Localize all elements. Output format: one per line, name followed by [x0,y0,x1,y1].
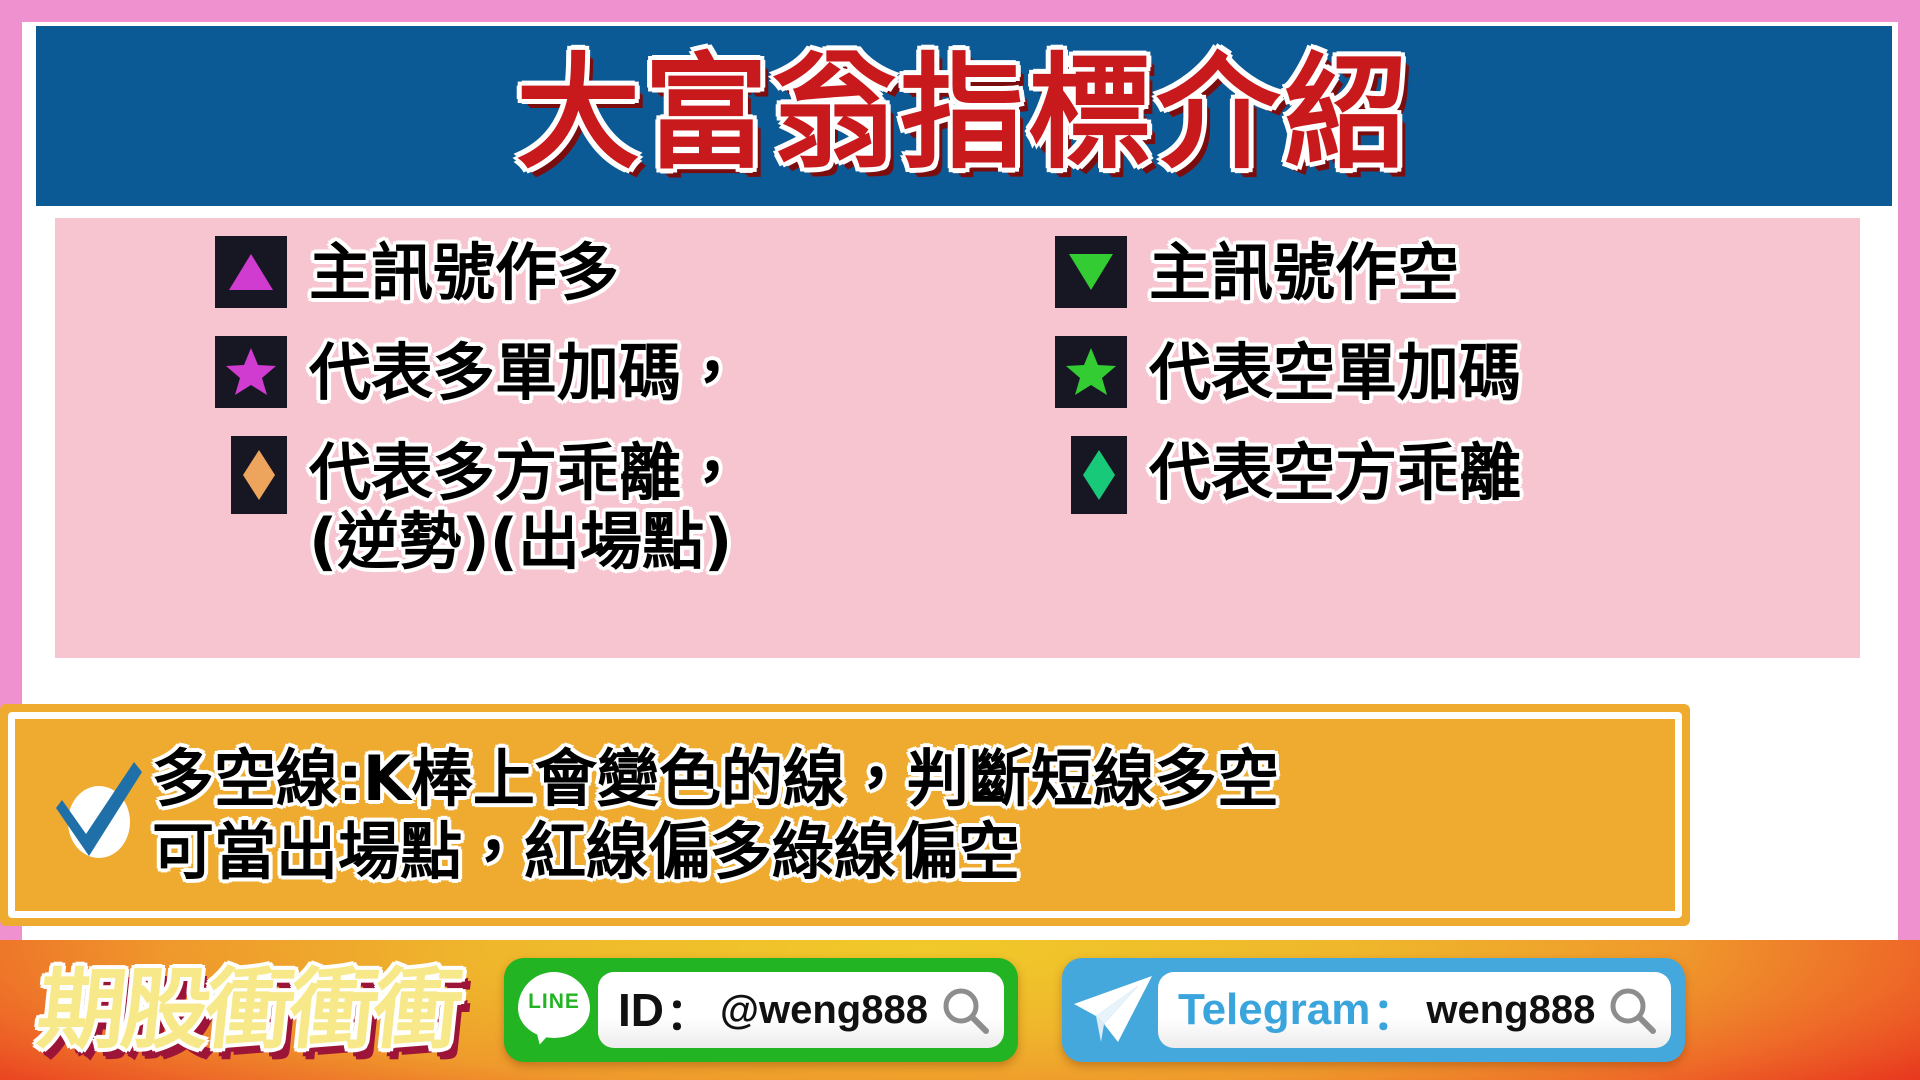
legend-label: 代表空單加碼 [1149,336,1521,407]
legend-label: 代表多方乖離， (逆勢)(出場點) [309,436,743,577]
note-banner: 多空線:K棒上會變色的線，判斷短線多空 可當出場點，紅線偏多綠線偏空 [0,704,1690,926]
line-id-value: @weng888 [720,990,928,1030]
legend-item-short-signal: 主訊號作空 [1055,236,1835,308]
line-id-colon: ： [666,978,710,1042]
telegram-colon: ： [1372,978,1416,1042]
paper-plane-icon [1068,970,1156,1050]
legend-item-long-signal: 主訊號作多 [215,236,975,308]
triangle-up-icon [215,236,287,308]
line-logo-icon: LINE [514,970,594,1050]
magnifier-icon[interactable] [1607,985,1657,1035]
legend-item-short-addon: 代表空單加碼 [1055,336,1835,408]
note-banner-content: 多空線:K棒上會變色的線，判斷短線多空 可當出場點，紅線偏多綠線偏空 [0,704,1690,926]
telegram-label: Telegram [1178,988,1370,1032]
check-icon [56,756,142,866]
telegram-id-field[interactable]: Telegram ： weng888 [1158,972,1671,1048]
legend-item-long-addon: 代表多單加碼， [215,336,975,408]
star-icon [215,336,287,408]
line-id-field[interactable]: ID ： @weng888 [598,972,1004,1048]
frame-border-right [1898,0,1920,940]
legend-panel: 主訊號作多 代表多單加碼， 代表多方乖離， (逆勢)(出場點) [55,218,1860,658]
line-contact-badge[interactable]: LINE ID ： @weng888 [504,958,1018,1062]
frame-border-top [0,0,1920,22]
line-logo-text: LINE [514,990,594,1014]
legend-label: 主訊號作多 [309,236,619,307]
title-banner: 大富翁指標介紹 [36,26,1892,206]
line-id-label: ID [618,987,664,1033]
legend-label: 代表多單加碼， [309,336,743,407]
triangle-down-icon [1055,236,1127,308]
footer-bar: 期股衝衝衝 LINE ID ： @weng888 [0,940,1920,1080]
diamond-icon [231,436,287,514]
brand-logo-text: 期股衝衝衝 [33,966,462,1054]
legend-label: 代表空方乖離 [1149,436,1521,507]
poster-root: 大富翁指標介紹 主訊號作多 代表多單加碼， [0,0,1920,1080]
magnifier-icon[interactable] [940,985,990,1035]
diamond-icon [1071,436,1127,514]
legend-item-short-divergence: 代表空方乖離 [1055,436,1835,514]
telegram-contact-badge[interactable]: Telegram ： weng888 [1062,958,1685,1062]
brand-logo: 期股衝衝衝 [38,951,458,1069]
legend-column-long: 主訊號作多 代表多單加碼， 代表多方乖離， (逆勢)(出場點) [215,218,975,605]
telegram-value: weng888 [1426,990,1595,1030]
note-banner-text: 多空線:K棒上會變色的線，判斷短線多空 可當出場點，紅線偏多綠線偏空 [152,742,1279,888]
legend-column-short: 主訊號作空 代表空單加碼 代表空方乖離 [1055,218,1835,542]
legend-item-long-divergence: 代表多方乖離， (逆勢)(出場點) [215,436,975,577]
page-title: 大富翁指標介紹 [516,52,1412,176]
legend-label: 主訊號作空 [1149,236,1459,307]
star-icon [1055,336,1127,408]
